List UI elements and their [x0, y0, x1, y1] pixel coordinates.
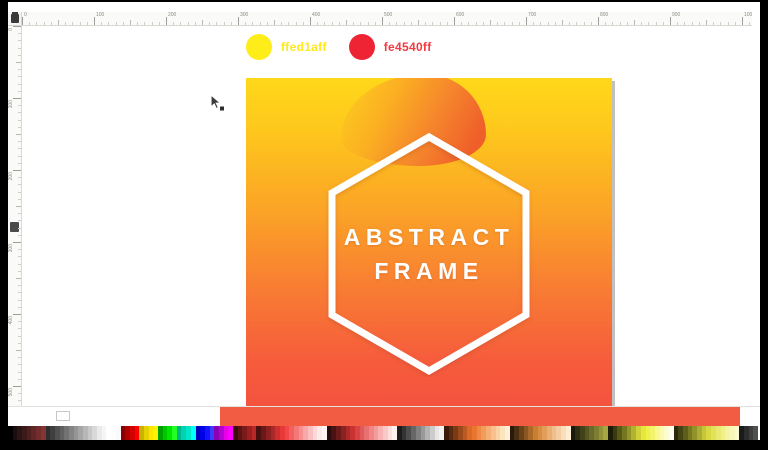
ruler-tick — [562, 20, 563, 25]
ruler-tick — [584, 22, 585, 25]
ruler-tick — [18, 120, 21, 121]
ruler-tick — [555, 22, 556, 25]
ruler-tick — [188, 22, 189, 25]
ruler-tick — [684, 22, 685, 25]
ruler-tick — [18, 307, 21, 308]
ruler-tick — [317, 22, 318, 25]
ruler-tick — [13, 26, 21, 27]
ruler-label: 800 — [600, 12, 608, 18]
ruler-tick — [339, 22, 340, 25]
ruler-tick — [18, 163, 21, 164]
ruler-tick — [18, 300, 21, 301]
ruler-tick — [202, 20, 203, 25]
ruler-tick — [677, 22, 678, 25]
ruler-tick — [36, 22, 37, 25]
ruler-tick — [216, 22, 217, 25]
ruler-tick — [29, 22, 30, 25]
color-palette-strip[interactable] — [8, 426, 760, 440]
ruler-tick — [173, 22, 174, 25]
ruler-tick — [540, 22, 541, 25]
yellow-swatch-label: ffed1aff — [281, 40, 327, 54]
ruler-label: 200 — [8, 172, 14, 180]
ruler-tick — [18, 357, 21, 358]
ruler-tick — [425, 22, 426, 25]
red-swatch-dot[interactable] — [349, 34, 375, 60]
poster-title-line-1: ABSTRACT — [320, 219, 538, 253]
ruler-tick — [144, 22, 145, 25]
ruler-tick — [612, 22, 613, 25]
ruler-label: 100 — [96, 12, 104, 18]
ruler-tick — [432, 22, 433, 25]
ruler-tick — [18, 184, 21, 185]
ruler-tick — [389, 22, 390, 25]
ruler-tick — [375, 22, 376, 25]
ruler-tick — [101, 22, 102, 25]
ruler-tick — [382, 17, 383, 25]
ruler-tick — [209, 22, 210, 25]
ruler-tick — [324, 22, 325, 25]
ruler-tick — [18, 105, 21, 106]
ruler-label: 1000 — [744, 12, 752, 18]
ruler-tick — [18, 148, 21, 149]
ruler-label: 400 — [312, 12, 320, 18]
ruler-tick — [332, 22, 333, 25]
ruler-tick — [512, 22, 513, 25]
ruler-tick — [605, 22, 606, 25]
ruler-tick — [18, 55, 21, 56]
ruler-tick — [692, 22, 693, 25]
ruler-tick — [18, 76, 21, 77]
ruler-label: 600 — [456, 12, 464, 18]
ruler-tick — [18, 192, 21, 193]
ruler-tick — [16, 206, 21, 207]
ruler-tick — [267, 22, 268, 25]
canvas-workspace[interactable]: ffed1aff fe4540ff ABSTRACT FRAME — [22, 26, 760, 406]
ruler-tick — [281, 22, 282, 25]
ruler-tick — [742, 17, 743, 25]
ruler-tick — [569, 22, 570, 25]
ruler-tick — [418, 20, 419, 25]
ruler-tick — [627, 22, 628, 25]
ruler-tick — [749, 22, 750, 25]
ruler-tick — [735, 22, 736, 25]
ruler-tick — [670, 17, 671, 25]
artboard[interactable]: ABSTRACT FRAME — [246, 78, 612, 406]
screenshot-root: 01002003004005006007008009001000 0100200… — [0, 0, 768, 450]
ruler-label: 900 — [672, 12, 680, 18]
ruler-tick — [108, 22, 109, 25]
ruler-tick — [360, 22, 361, 25]
ruler-tick — [461, 22, 462, 25]
ruler-tick — [454, 17, 455, 25]
ruler-tick — [533, 22, 534, 25]
ruler-label: 100 — [8, 100, 14, 108]
ruler-origin-corner[interactable] — [8, 12, 22, 26]
ruler-tick — [620, 22, 621, 25]
ruler-label: 700 — [528, 12, 536, 18]
ruler-tick — [706, 20, 707, 25]
ruler-tick — [18, 393, 21, 394]
ruler-tick — [346, 20, 347, 25]
ruler-tick — [238, 17, 239, 25]
ruler-tick — [591, 22, 592, 25]
ruler-tick — [296, 22, 297, 25]
ruler-tick — [252, 22, 253, 25]
ruler-label: 0 — [24, 12, 27, 18]
ruler-tick — [16, 350, 21, 351]
ruler-tick — [18, 400, 21, 401]
ruler-tick — [18, 235, 21, 236]
ruler-tick — [353, 22, 354, 25]
ruler-tick — [656, 22, 657, 25]
ruler-tick — [648, 22, 649, 25]
ruler-tick — [137, 22, 138, 25]
ruler-tick — [18, 364, 21, 365]
ruler-tick — [504, 22, 505, 25]
ruler-tick — [18, 141, 21, 142]
ruler-tick — [152, 22, 153, 25]
ruler-tick — [18, 91, 21, 92]
ruler-tick — [18, 321, 21, 322]
ruler-tick — [396, 22, 397, 25]
ruler-tick — [18, 228, 21, 229]
palette-swatch[interactable] — [753, 426, 758, 440]
ruler-tick — [274, 20, 275, 25]
ruler-tick — [51, 22, 52, 25]
ruler-tick — [245, 22, 246, 25]
yellow-swatch-dot[interactable] — [246, 34, 272, 60]
ruler-tick — [18, 177, 21, 178]
ruler-tick — [18, 256, 21, 257]
poster-title-line-2: FRAME — [320, 253, 538, 287]
ruler-tick — [18, 84, 21, 85]
ruler-tick — [231, 22, 232, 25]
ruler-tick — [728, 22, 729, 25]
ruler-tick — [58, 20, 59, 25]
ruler-tick — [65, 22, 66, 25]
ruler-tick — [80, 22, 81, 25]
ruler-tick — [411, 22, 412, 25]
ruler-label: 300 — [8, 244, 14, 252]
ruler-tick — [476, 22, 477, 25]
ruler-tick — [18, 156, 21, 157]
ruler-tick — [468, 22, 469, 25]
fill-color-swatch[interactable] — [220, 407, 740, 426]
ruler-tick — [13, 386, 21, 387]
ruler-tick — [260, 22, 261, 25]
ruler-tick — [18, 48, 21, 49]
ruler-tick — [548, 22, 549, 25]
ruler-tick — [699, 22, 700, 25]
ruler-tick — [720, 22, 721, 25]
ruler-tick — [159, 22, 160, 25]
ruler-tick — [18, 372, 21, 373]
ruler-tick — [18, 69, 21, 70]
ruler-tick — [72, 22, 73, 25]
ruler-tick — [303, 22, 304, 25]
node-editor-cursor — [210, 94, 224, 111]
ruler-tick — [18, 112, 21, 113]
ruler-tick — [447, 22, 448, 25]
red-swatch-label: fe4540ff — [384, 40, 432, 54]
ruler-label: 400 — [8, 316, 14, 324]
ruler-tick — [18, 379, 21, 380]
ruler-label: 300 — [240, 12, 248, 18]
ruler-label: 0 — [8, 28, 14, 31]
ruler-tick — [368, 22, 369, 25]
ruler-tick — [224, 22, 225, 25]
ruler-tick — [18, 343, 21, 344]
ruler-tick — [634, 20, 635, 25]
ruler-tick — [22, 17, 23, 25]
ruler-tick — [87, 22, 88, 25]
status-indicator-box — [56, 411, 70, 421]
ruler-tick — [180, 22, 181, 25]
poster-title: ABSTRACT FRAME — [320, 219, 538, 287]
ruler-tick — [18, 292, 21, 293]
ruler-tick — [18, 271, 21, 272]
ruler-tick — [16, 278, 21, 279]
ruler-tick — [18, 264, 21, 265]
ruler-tick — [497, 22, 498, 25]
ruler-tick — [195, 22, 196, 25]
ruler-tick — [18, 40, 21, 41]
ruler-tick — [116, 22, 117, 25]
ruler-tick — [16, 134, 21, 135]
ruler-tick — [713, 22, 714, 25]
ruler-tick — [166, 17, 167, 25]
ruler-tick — [404, 22, 405, 25]
vertical-ruler-handle[interactable] — [10, 222, 19, 232]
ruler-label: 500 — [384, 12, 392, 18]
ruler-label: 500 — [8, 388, 14, 396]
ruler-tick — [576, 22, 577, 25]
ruler-tick — [13, 170, 21, 171]
ruler-origin-icon — [11, 14, 19, 23]
ruler-tick — [13, 98, 21, 99]
vertical-ruler[interactable]: 0100200300400500 — [8, 26, 22, 406]
ruler-tick — [44, 22, 45, 25]
application-window: 01002003004005006007008009001000 0100200… — [8, 2, 760, 440]
ruler-tick — [18, 249, 21, 250]
ruler-label: 200 — [168, 12, 176, 18]
ruler-tick — [18, 199, 21, 200]
ruler-tick — [18, 328, 21, 329]
ruler-tick — [94, 17, 95, 25]
ruler-tick — [18, 220, 21, 221]
ruler-tick — [310, 17, 311, 25]
color-annotation-row: ffed1aff fe4540ff — [246, 34, 432, 60]
status-bar[interactable] — [8, 406, 760, 426]
ruler-tick — [490, 20, 491, 25]
ruler-tick — [18, 285, 21, 286]
ruler-tick — [483, 22, 484, 25]
hexagon-frame-group[interactable]: ABSTRACT FRAME — [320, 130, 538, 376]
ruler-tick — [526, 17, 527, 25]
ruler-tick — [18, 33, 21, 34]
ruler-tick — [18, 127, 21, 128]
ruler-tick — [519, 22, 520, 25]
ruler-tick — [18, 213, 21, 214]
ruler-tick — [663, 22, 664, 25]
ruler-tick — [440, 22, 441, 25]
ruler-tick — [288, 22, 289, 25]
ruler-tick — [16, 62, 21, 63]
ruler-tick — [18, 336, 21, 337]
horizontal-ruler[interactable]: 01002003004005006007008009001000 — [22, 12, 752, 26]
ruler-tick — [598, 17, 599, 25]
ruler-tick — [13, 242, 21, 243]
ruler-tick — [641, 22, 642, 25]
ruler-tick — [130, 20, 131, 25]
ruler-tick — [13, 314, 21, 315]
ruler-tick — [123, 22, 124, 25]
